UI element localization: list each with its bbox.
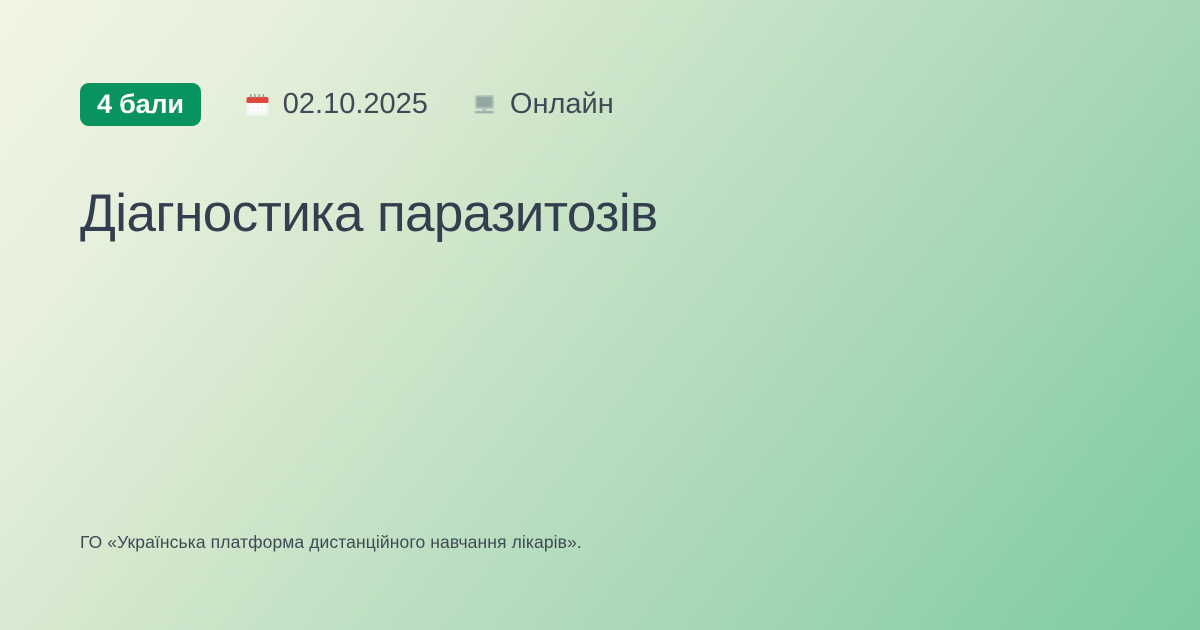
calendar-icon	[244, 91, 271, 118]
desktop-computer-icon	[471, 91, 498, 118]
event-date-value: 02.10.2025	[283, 90, 428, 119]
credit-points-badge: 4 бали	[80, 83, 201, 126]
event-card: 4 бали	[0, 0, 1200, 630]
event-meta-row: 4 бали	[80, 82, 1120, 126]
page-title: Діагностика паразитозів	[80, 126, 1120, 243]
event-format: Онлайн	[471, 90, 614, 119]
event-date: 02.10.2025	[244, 90, 428, 119]
event-format-value: Онлайн	[510, 90, 614, 119]
organizer-footer: ГО «Українська платформа дистанційного н…	[80, 531, 582, 554]
